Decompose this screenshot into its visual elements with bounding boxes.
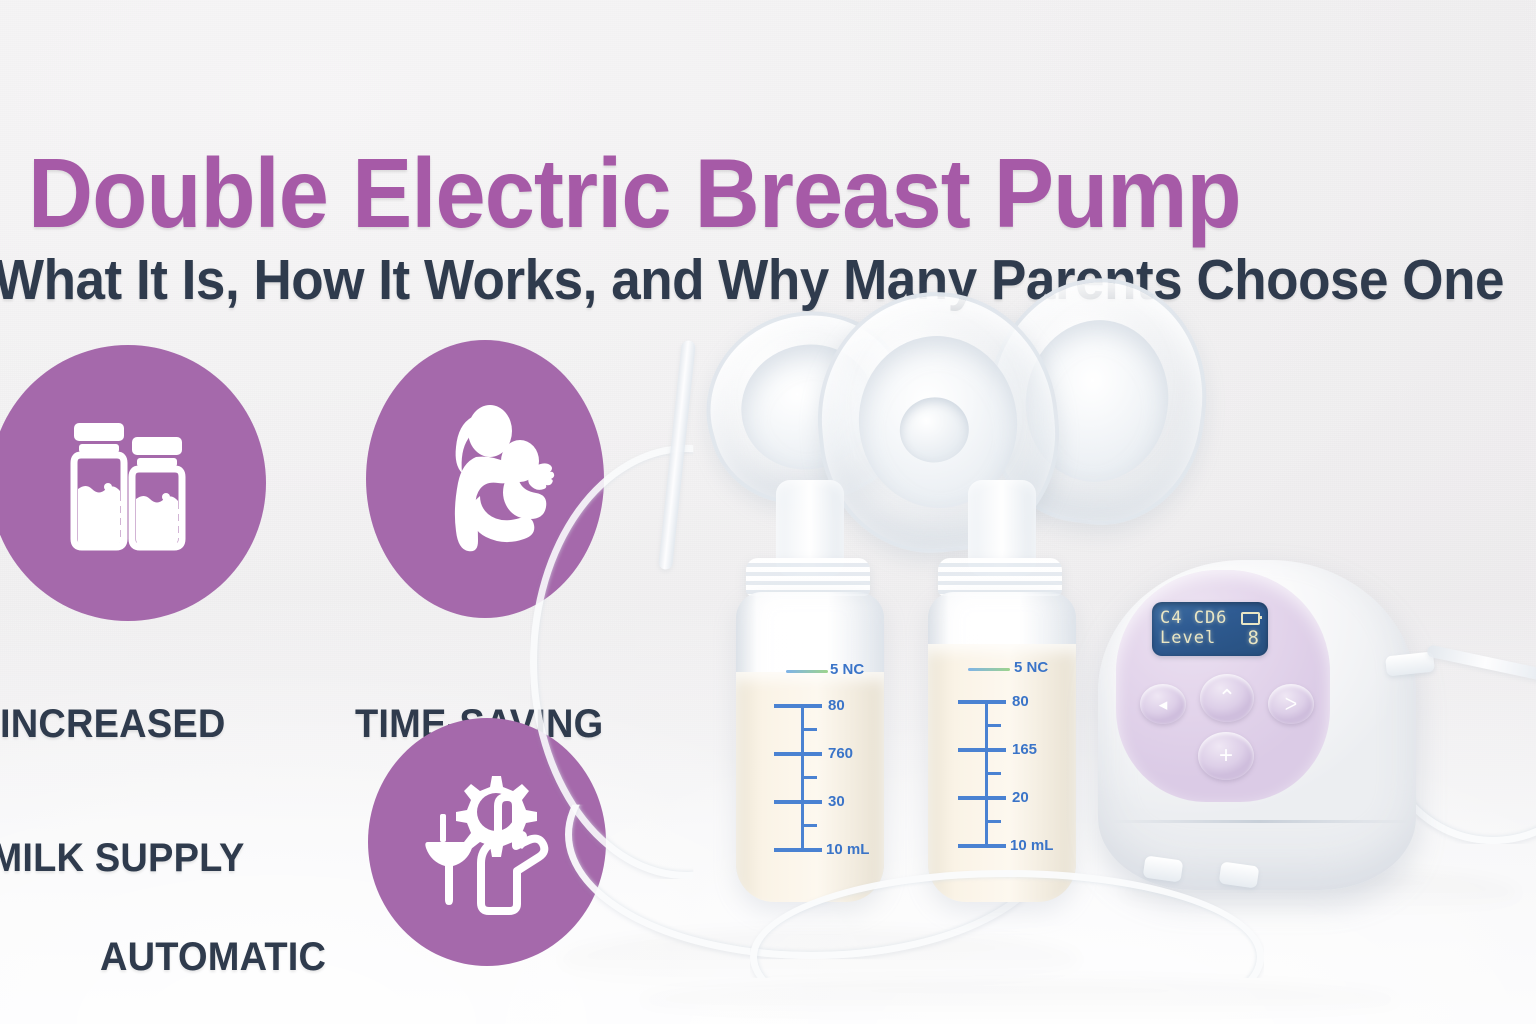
bottle-left-nc-arrow: [786, 670, 828, 673]
bottle-right-nc-arrow: [968, 668, 1010, 671]
up-arrow-button[interactable]: ⌃: [1200, 674, 1254, 722]
plus-button[interactable]: +: [1198, 732, 1254, 780]
bottle-right-tick-long-3: [958, 796, 1006, 800]
bottle-right-marking-nc: 5 NC: [1014, 659, 1048, 676]
bottle-right-grad-3: 20: [1012, 789, 1029, 806]
poster-canvas: Double Electric Breast Pump What It Is, …: [0, 0, 1536, 1024]
bottle-right-tick-short-1: [985, 724, 1001, 727]
bottle-right-milk: [928, 644, 1076, 902]
bottle-left-grad-1: 80: [828, 697, 845, 714]
milk-bottles-icon: [48, 403, 208, 563]
bottle-right-tick-short-2: [985, 772, 1001, 775]
bottle-right-cap: [938, 558, 1062, 596]
right-arrow-button[interactable]: ᐳ: [1268, 684, 1314, 724]
pump-lcd-display: C4 CD6 Level 8: [1152, 602, 1268, 656]
benefit-label-line1: INCREASED: [0, 702, 245, 747]
bottle-right-tick-long-2: [958, 748, 1006, 752]
bottle-left-tick-long-4: [774, 848, 822, 852]
bottle-left-tick-short-2: [801, 776, 817, 779]
bottle-left-tick-long-3: [774, 800, 822, 804]
page-title: Double Electric Breast Pump: [28, 144, 1316, 242]
bottle-right: [928, 592, 1076, 902]
bottle-right-tick-long-1: [958, 700, 1006, 704]
benefit-label-line1: AUTOMATIC: [100, 935, 336, 980]
bottle-right-tick-long-4: [958, 844, 1006, 848]
bottle-left-tick-short-1: [801, 728, 817, 731]
bottle-left-cap: [746, 558, 870, 596]
breast-pump-photo: 5 NC 80 760 30 10 mL 5 NC 80 165 20 10 m…: [520, 270, 1536, 1024]
lcd-level-value: 8: [1248, 628, 1260, 648]
battery-icon: [1241, 612, 1260, 625]
lcd-level-label: Level: [1160, 628, 1216, 648]
bottle-right-grad-1: 80: [1012, 693, 1029, 710]
bottle-right-grad-2: 165: [1012, 741, 1037, 758]
benefit-label-automatic-efficient: AUTOMATIC & EFFICIENT: [100, 845, 336, 1024]
bottle-left-marking-nc: 5 NC: [830, 661, 864, 678]
bottle-right-grad-4: 10 mL: [1010, 837, 1053, 854]
motor-seam-line: [1110, 820, 1410, 823]
benefit-icon-increased-milk-supply: [0, 345, 266, 621]
lcd-row-mode: C4 CD6: [1160, 608, 1260, 628]
left-arrow-button[interactable]: ◂: [1140, 684, 1186, 724]
bottle-left-tick-long-1: [774, 704, 822, 708]
lcd-row-level: Level 8: [1160, 628, 1260, 648]
bottle-right-tick-short-3: [985, 820, 1001, 823]
bottle-left-grad-2: 760: [828, 745, 853, 762]
bottle-left-tick-short-3: [801, 824, 817, 827]
lcd-mode-text: C4 CD6: [1160, 608, 1227, 628]
bottle-left-tick-long-2: [774, 752, 822, 756]
bottle-left-grad-3: 30: [828, 793, 845, 810]
bottle-left-grad-4: 10 mL: [826, 841, 869, 858]
